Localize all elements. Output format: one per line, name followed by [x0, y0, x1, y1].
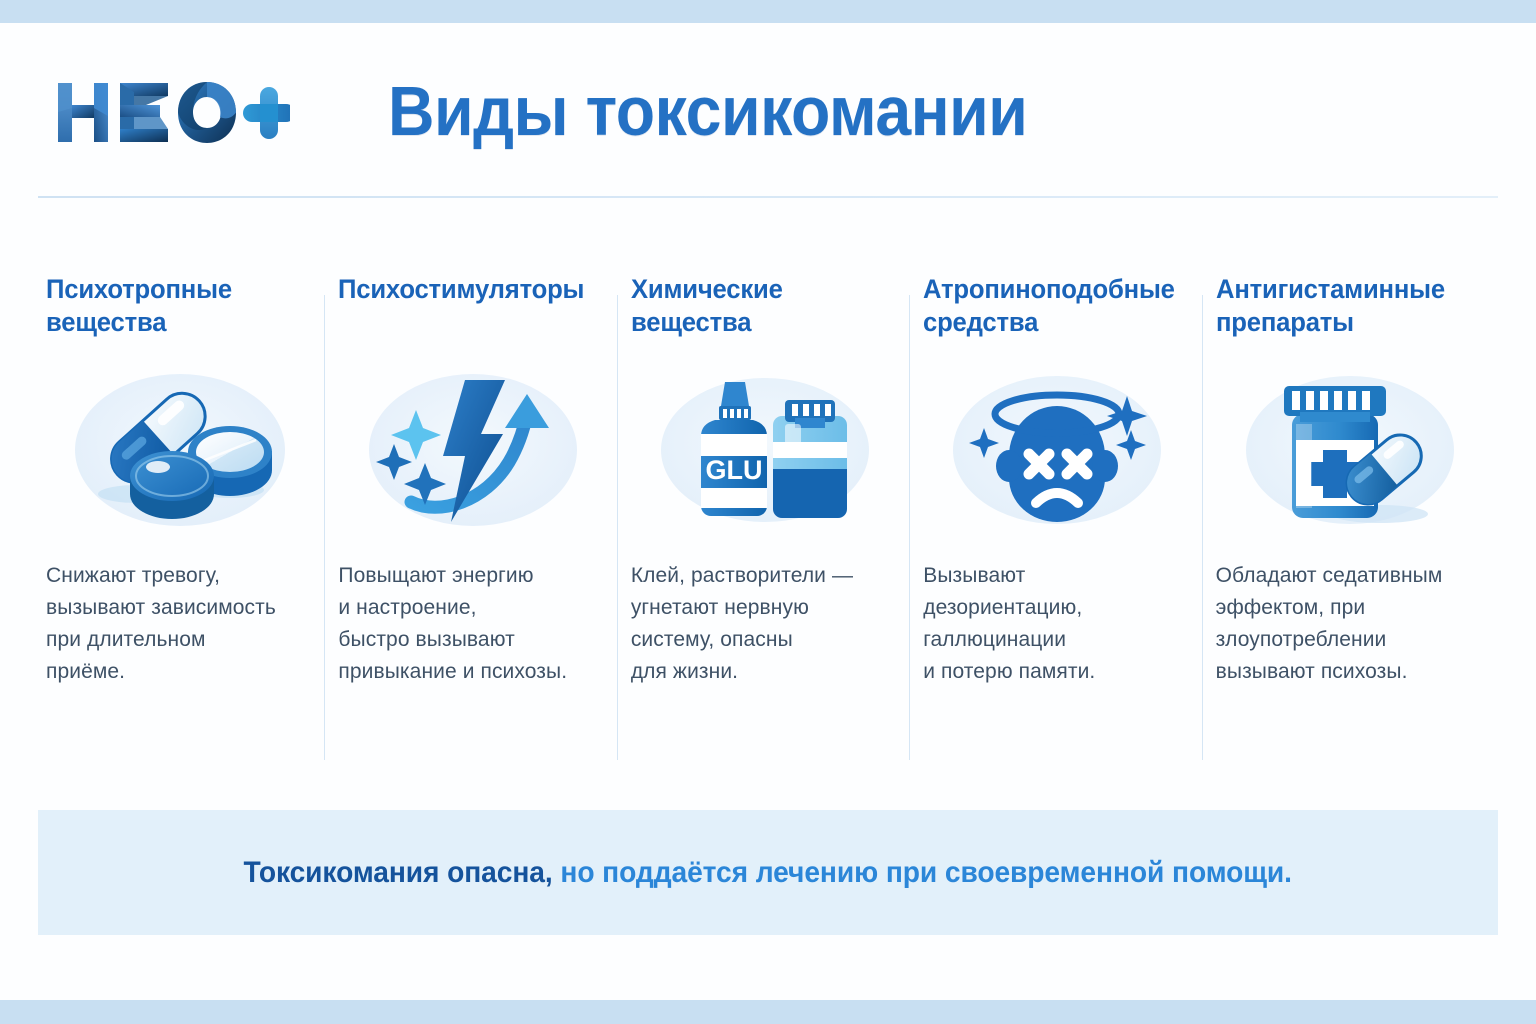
- category-title: Психотропные вещества: [46, 273, 301, 347]
- pills-icon: [46, 363, 314, 538]
- category-description: Вызывают дезориентацию, галлюцинации и п…: [923, 560, 1191, 688]
- category-card-psychotropic: Психотропные вещества: [38, 273, 330, 773]
- footer-message-strong: Токсикомания опасна,: [244, 856, 553, 889]
- infographic-page: Виды токсикомании Психотропные вещества: [0, 23, 1536, 1000]
- category-card-atropine: Атропиноподобные средства: [915, 273, 1207, 773]
- logo-neo-plus-icon: [50, 78, 290, 148]
- medicine-bottle-capsule-icon: [1216, 363, 1484, 538]
- category-title: Химические вещества: [631, 273, 886, 347]
- footer-message-rest: но поддаётся лечению при своевременной п…: [553, 856, 1292, 889]
- footer-message: Токсикомания опасна, но поддаётся лечени…: [244, 856, 1292, 890]
- page-title: Виды токсикомании: [388, 71, 1027, 151]
- category-columns: Психотропные вещества: [38, 273, 1500, 773]
- bottom-accent-bar: [0, 1000, 1536, 1024]
- category-description: Повыщают энергию и настроение, быстро вы…: [338, 560, 606, 688]
- category-card-chemicals: Химические вещества: [623, 273, 915, 773]
- top-accent-bar: [0, 0, 1536, 23]
- category-card-stimulants: Психостимуляторы: [330, 273, 622, 773]
- header: Виды токсикомании: [0, 23, 1536, 198]
- category-title: Атропиноподобные средства: [923, 273, 1178, 347]
- dizzy-face-icon: [923, 363, 1191, 538]
- footer-banner: Токсикомания опасна, но поддаётся лечени…: [38, 810, 1498, 935]
- solvent-bottles-icon: GLU: [631, 363, 899, 538]
- category-description: Клей, растворители — угнетают нервную си…: [631, 560, 899, 688]
- header-divider: [38, 196, 1498, 198]
- category-card-antihistamine: Антигистаминные препараты: [1208, 273, 1500, 773]
- category-title: Психостимуляторы: [338, 273, 593, 347]
- category-title: Антигистаминные препараты: [1216, 273, 1471, 347]
- category-description: Снижают тревогу, вызывают зависимость пр…: [46, 560, 314, 688]
- category-description: Обладают седативным эффектом, при злоупо…: [1216, 560, 1484, 688]
- lightning-bolt-icon: [338, 363, 606, 538]
- glue-label: GLU: [706, 455, 763, 485]
- brand-logo: [50, 78, 290, 148]
